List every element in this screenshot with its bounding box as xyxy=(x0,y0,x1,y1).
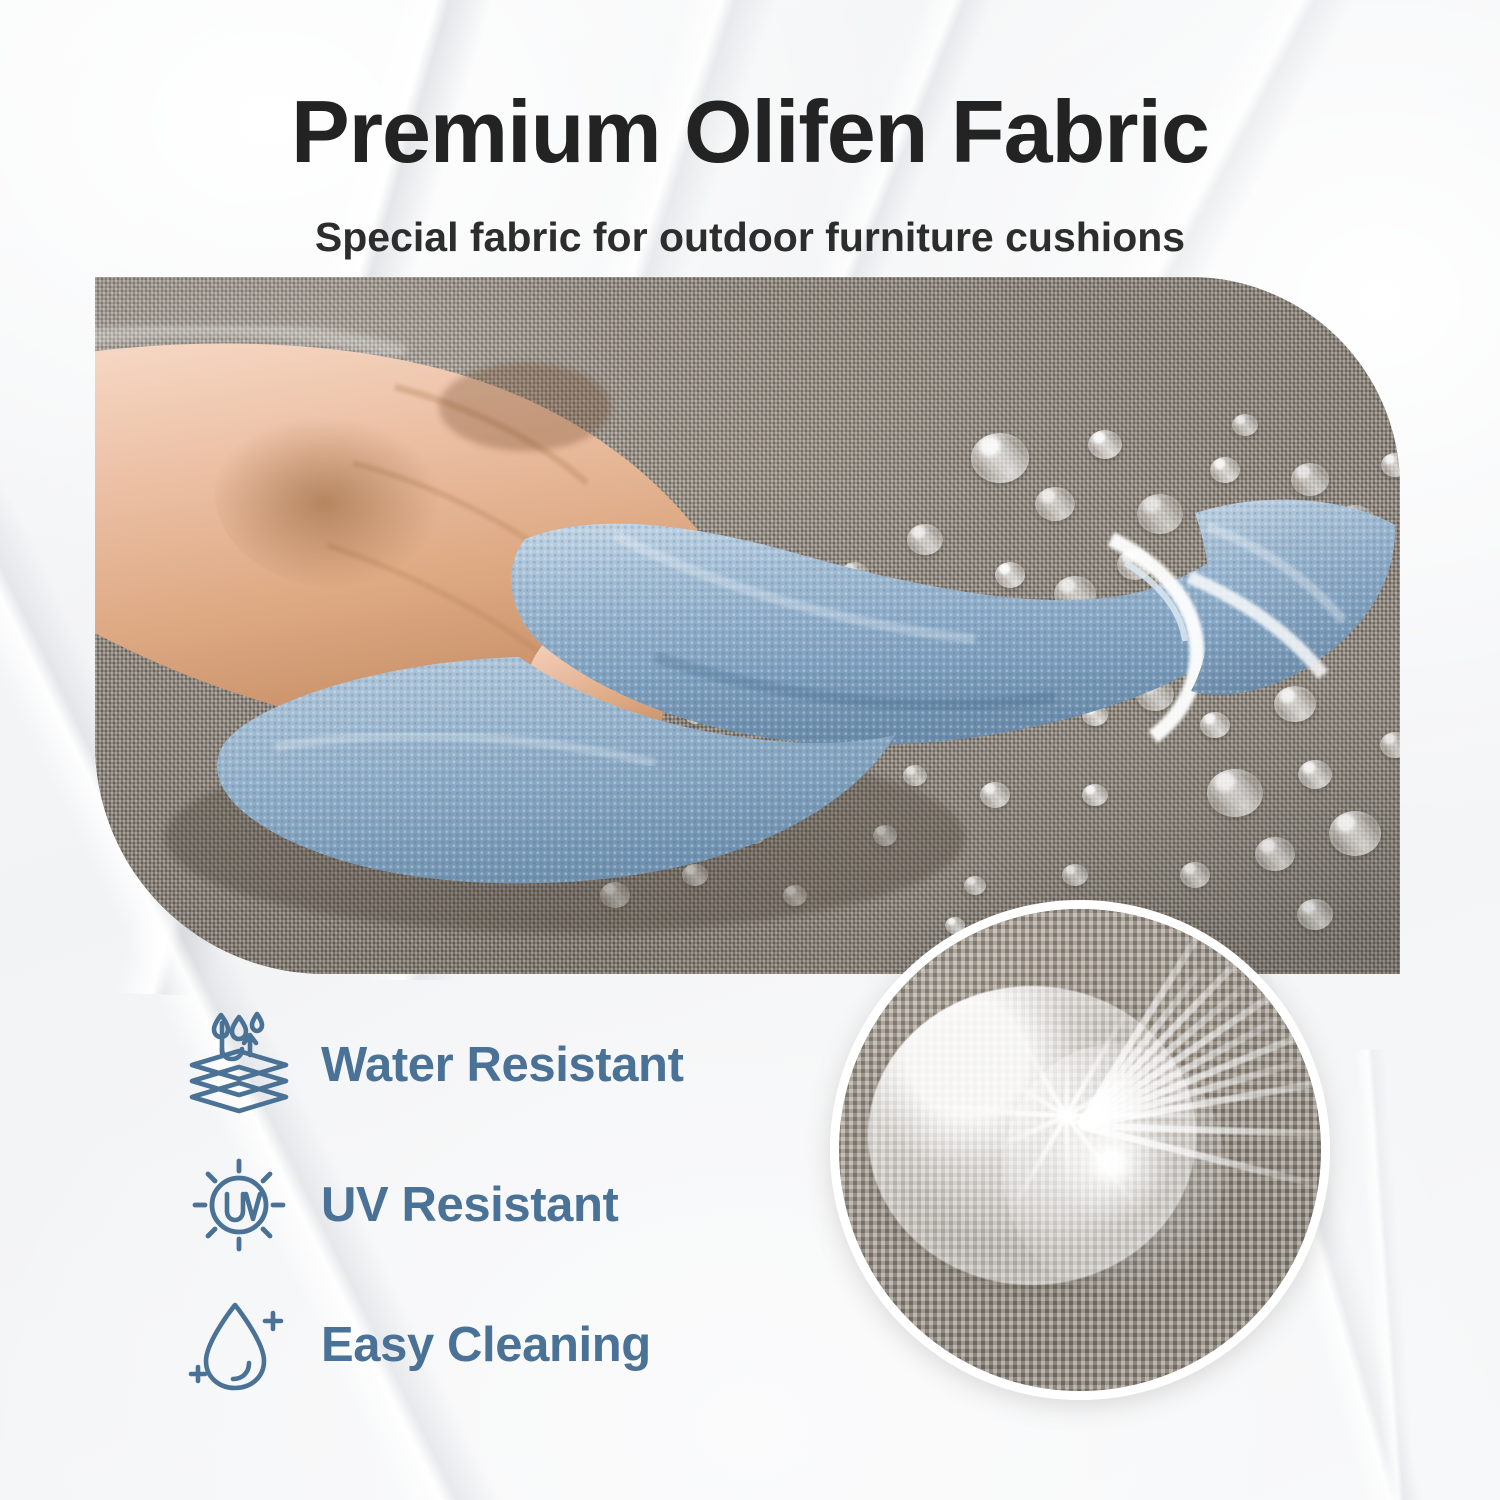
feature-row-water-resistant: Water Resistant xyxy=(175,995,875,1135)
feature-label: Water Resistant xyxy=(321,1037,684,1093)
page-title: Premium Olifen Fabric xyxy=(0,88,1500,176)
feature-row-easy-cleaning: Easy Cleaning xyxy=(175,1275,875,1415)
water-droplet-sparkle-icon xyxy=(175,1285,303,1405)
magnifier-circle xyxy=(830,900,1330,1400)
feature-label: Easy Cleaning xyxy=(321,1317,651,1373)
uv-sun-icon xyxy=(175,1145,303,1265)
page-subtitle: Special fabric for outdoor furniture cus… xyxy=(0,215,1500,260)
infographic-canvas: Premium Olifen Fabric Special fabric for… xyxy=(0,0,1500,1500)
water-bead-magnifier-inset xyxy=(830,860,1330,1400)
feature-list: Water Resistant xyxy=(175,995,875,1415)
water-drops-on-layers-icon xyxy=(175,1005,303,1125)
feature-label: UV Resistant xyxy=(321,1177,618,1233)
flare-core xyxy=(1046,1097,1176,1227)
feature-row-uv-resistant: UV Resistant xyxy=(175,1135,875,1275)
